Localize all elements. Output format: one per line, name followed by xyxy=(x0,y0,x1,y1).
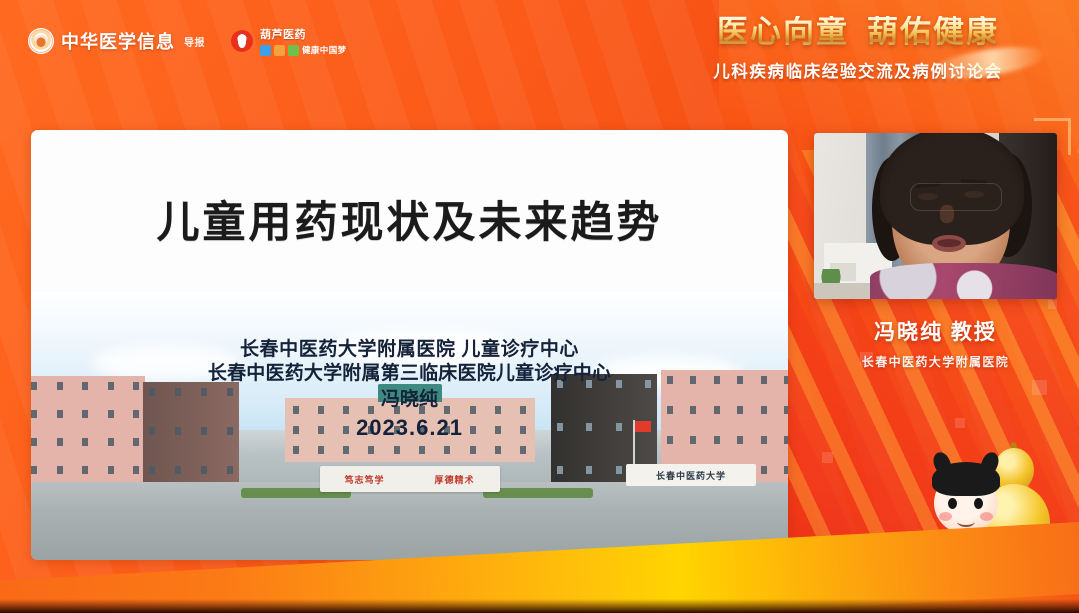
speaker-caption: 冯晓纯 教授 长春中医药大学附属医院 xyxy=(814,316,1057,370)
gate-sign-right-text: 厚德精术 xyxy=(434,473,474,486)
speaker-video-feed[interactable] xyxy=(814,133,1057,299)
medal-seal-icon xyxy=(28,28,54,54)
logo-chinese-medical-association[interactable]: 中华医学信息 导报 xyxy=(28,28,205,54)
header-logo-row: 中华医学信息 导报 葫芦医药 健康中国梦 xyxy=(28,26,347,56)
campus-gate-sign: 笃志笃学 厚德精术 xyxy=(320,466,500,492)
broadcast-stage: 中华医学信息 导报 葫芦医药 健康中国梦 医心向童葫佑健康 儿科疾病临床经验交流… xyxy=(0,0,1079,613)
speaker-organization: 长春中医药大学附属医院 xyxy=(814,353,1057,370)
logo-primary-text: 中华医学信息 xyxy=(61,28,175,54)
event-subtitle: 儿科疾病临床经验交流及病例讨论会 xyxy=(663,58,1053,82)
logo-sponsor-text-group: 葫芦医药 健康中国梦 xyxy=(260,26,347,56)
mascot-hair xyxy=(932,462,1000,496)
speaker-mouth xyxy=(932,235,966,252)
logo-sponsor-subtitle: 健康中国梦 xyxy=(302,44,347,56)
campus-name-sign: 长春中医药大学 xyxy=(626,464,756,486)
event-title: 医心向童葫佑健康 xyxy=(663,16,1053,49)
decor-square xyxy=(822,452,833,463)
gourd-drop-icon xyxy=(231,30,253,52)
bottom-edge-fade xyxy=(0,599,1079,613)
event-title-block: 医心向童葫佑健康 儿科疾病临床经验交流及病例讨论会 xyxy=(663,16,1053,82)
speaker-eye-left xyxy=(918,193,938,200)
gate-sign-left-text: 笃志笃学 xyxy=(344,473,384,486)
bottom-ribbon-decor xyxy=(0,493,1079,613)
slide-affiliation-line-1: 长春中医药大学附属医院 儿童诊疗中心 xyxy=(31,338,788,362)
decor-square xyxy=(1048,300,1057,309)
event-title-part1: 医心向童 xyxy=(717,14,849,50)
logo-sponsor-title: 葫芦医药 xyxy=(260,26,347,42)
decor-square xyxy=(955,418,965,428)
green-chip-icon xyxy=(288,45,299,56)
speaker-nose xyxy=(940,205,954,223)
decor-square xyxy=(1032,380,1047,395)
campus-sign-text: 长春中医药大学 xyxy=(656,469,726,482)
event-title-part2: 葫佑健康 xyxy=(867,14,999,50)
slide-affiliation-line-2: 长春中医药大学附属第三临床医院儿童诊疗中心 xyxy=(31,362,788,386)
logo-primary-suffix: 导报 xyxy=(184,34,205,49)
camera-corner-accent xyxy=(1034,118,1071,155)
blue-chip-icon xyxy=(260,45,271,56)
speaker-name: 冯晓纯 教授 xyxy=(814,316,1057,346)
orange-chip-icon xyxy=(274,45,285,56)
logo-sponsor[interactable]: 葫芦医药 健康中国梦 xyxy=(231,26,347,56)
slide-presenter-name: 冯晓纯 xyxy=(31,388,788,412)
speaker-eye-right xyxy=(964,191,984,198)
logo-sponsor-chip-row: 健康中国梦 xyxy=(260,44,347,56)
slide-subtitle-block: 长春中医药大学附属医院 儿童诊疗中心 长春中医药大学附属第三临床医院儿童诊疗中心… xyxy=(31,338,788,442)
slide-date: 2023.6.21 xyxy=(31,414,788,442)
slide-title: 儿童用药现状及未来趋势 xyxy=(31,188,788,250)
speaker-shirt xyxy=(870,263,1057,299)
